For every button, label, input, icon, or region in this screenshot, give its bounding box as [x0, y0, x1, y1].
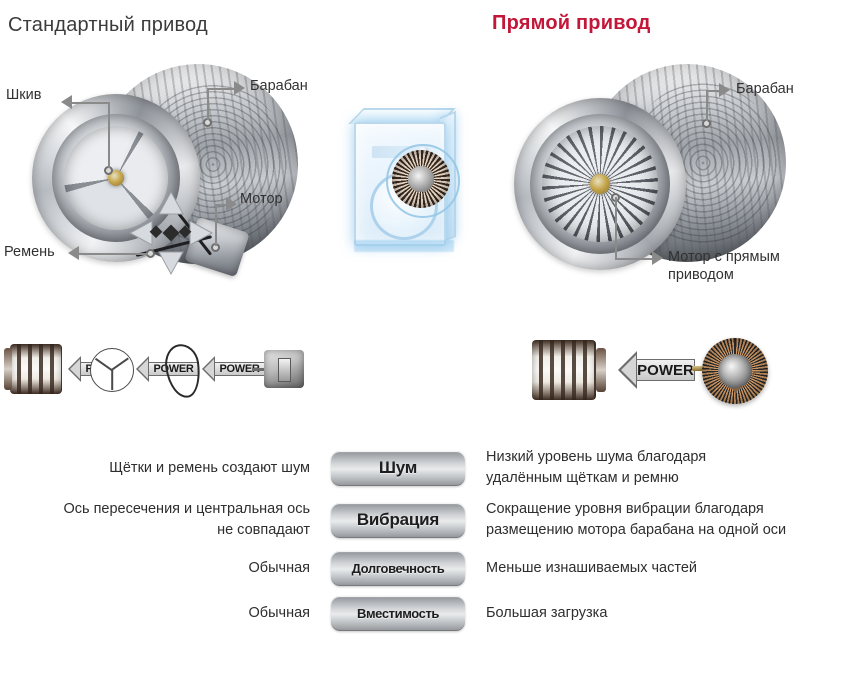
row-capacity-direct: Большая загрузка: [474, 603, 850, 624]
motor-left-arrowhead: [226, 197, 237, 211]
pulley-spoke-1: [111, 370, 113, 390]
row-durability-direct: Меньше изнашиваемых частей: [474, 558, 850, 579]
chain-drum-cap-icon: [4, 348, 12, 390]
chain-drum-icon: [10, 344, 62, 394]
comparison-table: Щётки и ремень создают шум Шум Низкий ур…: [0, 447, 850, 641]
power-arrow-head-1: [68, 356, 81, 382]
chain-drum-cap-icon-right: [596, 348, 606, 392]
table-row: Щётки и ремень создают шум Шум Низкий ур…: [0, 447, 850, 489]
drum-left-leader-v: [207, 88, 209, 120]
machine-base-glow: [354, 240, 454, 252]
power-label-direct: POWER: [637, 362, 694, 379]
row-durability-standard: Обычная: [0, 558, 322, 579]
belt-leader-h: [78, 253, 148, 255]
pulley-spoke-3: [112, 358, 129, 371]
motor-shaft-hub-icon: [590, 174, 610, 194]
callout-motor-right: Мотор с прямым приводом: [668, 248, 780, 284]
pill-vibration-label: Вибрация: [357, 510, 439, 530]
drum-left-arrowhead: [234, 81, 245, 95]
row-vibration-pill-cell: Вибрация: [322, 503, 474, 538]
infographic-canvas: Стандартный привод Прямой привод Шкив: [0, 0, 850, 673]
direct-drive-rotor-icon: [392, 150, 450, 208]
title-standard-drive: Стандартный привод: [8, 14, 208, 37]
pill-noise-label: Шум: [379, 458, 417, 478]
row-noise-pill-cell: Шум: [322, 451, 474, 486]
chain-motor-icon: [264, 350, 304, 388]
chain-drum-icon-right: [532, 340, 596, 400]
pill-noise[interactable]: Шум: [331, 451, 465, 486]
callout-motor-left: Мотор: [240, 190, 283, 208]
power-arrow-tail-direct: POWER: [637, 359, 695, 381]
drum-right-leader-h: [706, 90, 720, 92]
callout-pulley: Шкив: [6, 86, 41, 104]
table-row: Ось пересечения и центральная ось не сов…: [0, 499, 850, 541]
power-arrow-direct: POWER: [618, 357, 695, 383]
motor-right-leader-v: [615, 197, 617, 259]
pulley-leader-v: [108, 102, 110, 168]
pulley-arrowhead: [61, 95, 72, 109]
row-vibration-direct: Сокращение уровня вибрации благодаря раз…: [474, 499, 850, 541]
vibration-star-icon: [128, 190, 214, 276]
callout-drum-right: Барабан: [736, 80, 794, 98]
callout-drum-left: Барабан: [250, 77, 308, 95]
row-capacity-pill-cell: Вместимость: [322, 596, 474, 631]
drum-left-leader-h: [207, 88, 235, 90]
drum-right-leader-v: [706, 90, 708, 121]
pill-vibration[interactable]: Вибрация: [331, 503, 465, 538]
pill-capacity-label: Вместимость: [357, 606, 439, 621]
row-noise-standard: Щётки и ремень создают шум: [0, 458, 322, 479]
belt-arrowhead: [68, 246, 79, 260]
pulley-leader-h: [72, 102, 110, 104]
power-arrow-head-3: [202, 356, 215, 382]
motor-right-arrowhead: [652, 251, 663, 265]
power-arrow-head-2: [136, 356, 149, 382]
row-noise-direct: Низкий уровень шума благодаря удалённым …: [474, 447, 850, 489]
chain-belt-icon: [162, 342, 203, 400]
pill-durability[interactable]: Долговечность: [331, 551, 465, 586]
power-arrow-head-direct: [618, 351, 637, 389]
row-capacity-standard: Обычная: [0, 603, 322, 624]
chain-pulley-icon: [90, 348, 134, 392]
chain-direct-motor-icon: [702, 338, 768, 404]
motor-right-leader-h: [615, 258, 653, 260]
table-row: Обычная Долговечность Меньше изнашиваемы…: [0, 551, 850, 586]
drum-right-arrowhead: [719, 83, 730, 97]
motor-left-leader-v: [215, 204, 217, 246]
callout-belt: Ремень: [4, 243, 55, 261]
row-durability-pill-cell: Долговечность: [322, 551, 474, 586]
pill-capacity[interactable]: Вместимость: [331, 596, 465, 631]
title-direct-drive: Прямой привод: [492, 12, 650, 35]
washing-machine-ghost-view: [348, 112, 456, 257]
pill-durability-label: Долговечность: [352, 561, 445, 576]
pulley-spoke-2: [95, 358, 112, 371]
row-vibration-standard: Ось пересечения и центральная ось не сов…: [0, 499, 322, 541]
table-row: Обычная Вместимость Большая загрузка: [0, 596, 850, 631]
